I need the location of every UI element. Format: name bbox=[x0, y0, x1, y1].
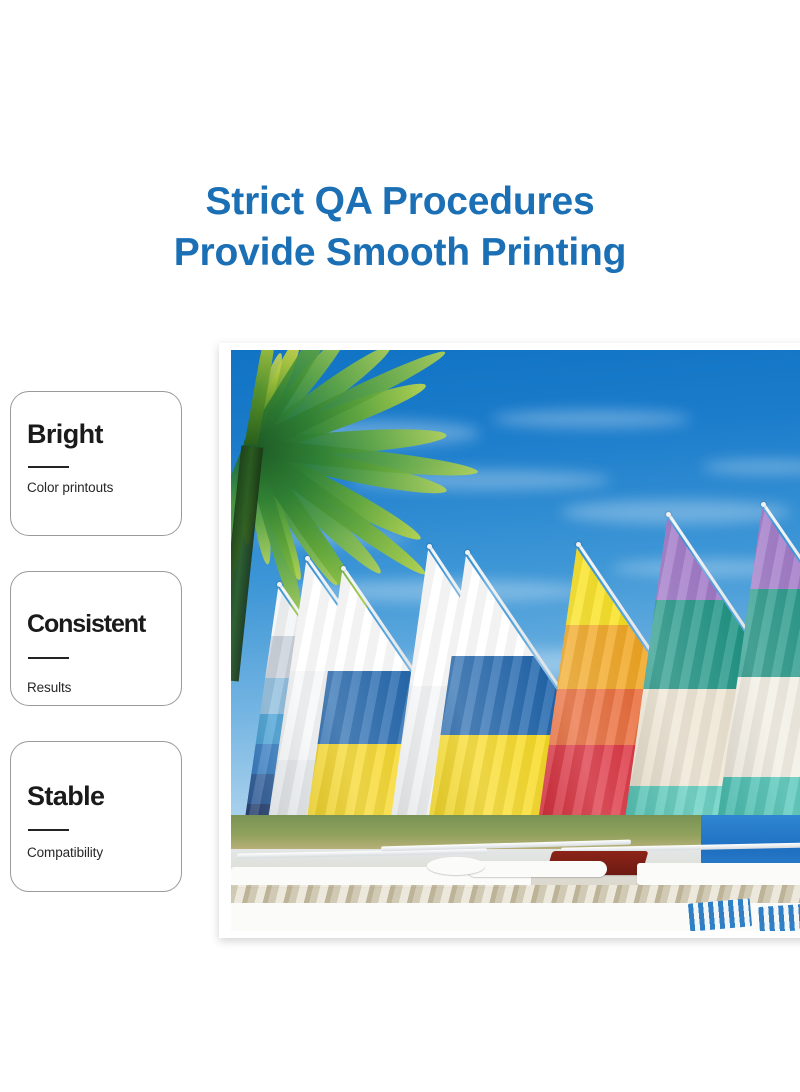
feature-card-subtitle: Color printouts bbox=[27, 480, 165, 495]
beach-ground bbox=[231, 815, 800, 931]
page-title: Strict QA Procedures Provide Smooth Prin… bbox=[0, 176, 800, 278]
feature-card-divider bbox=[28, 466, 69, 468]
sailboats-photo bbox=[231, 350, 800, 931]
feature-card-consistent: Consistent Results bbox=[10, 571, 182, 706]
feature-card-subtitle: Results bbox=[27, 680, 165, 695]
page-title-line-1: Strict QA Procedures bbox=[0, 176, 800, 227]
feature-card-title: Stable bbox=[27, 780, 165, 812]
cloud-wisp bbox=[561, 500, 791, 524]
feature-card-subtitle: Compatibility bbox=[27, 845, 165, 860]
mast-tip bbox=[761, 502, 766, 507]
mast-tip bbox=[465, 550, 470, 555]
feature-card-stable: Stable Compatibility bbox=[10, 741, 182, 892]
feature-card-list: Bright Color printouts Consistent Result… bbox=[10, 391, 182, 892]
boat-float bbox=[427, 857, 485, 875]
feature-card-divider bbox=[28, 657, 69, 659]
boat-hull bbox=[467, 861, 607, 877]
feature-card-divider bbox=[28, 829, 69, 831]
feature-card-bright: Bright Color printouts bbox=[10, 391, 182, 536]
cloud-wisp bbox=[491, 410, 691, 428]
feature-card-title: Consistent bbox=[27, 608, 165, 640]
beach-chair bbox=[758, 903, 800, 931]
beach-chair bbox=[688, 898, 752, 931]
boat-hull bbox=[637, 863, 800, 885]
feature-card-title: Bright bbox=[27, 418, 165, 450]
photo-frame bbox=[219, 343, 800, 938]
mast-tip bbox=[576, 542, 581, 547]
page-title-line-2: Provide Smooth Printing bbox=[0, 227, 800, 278]
